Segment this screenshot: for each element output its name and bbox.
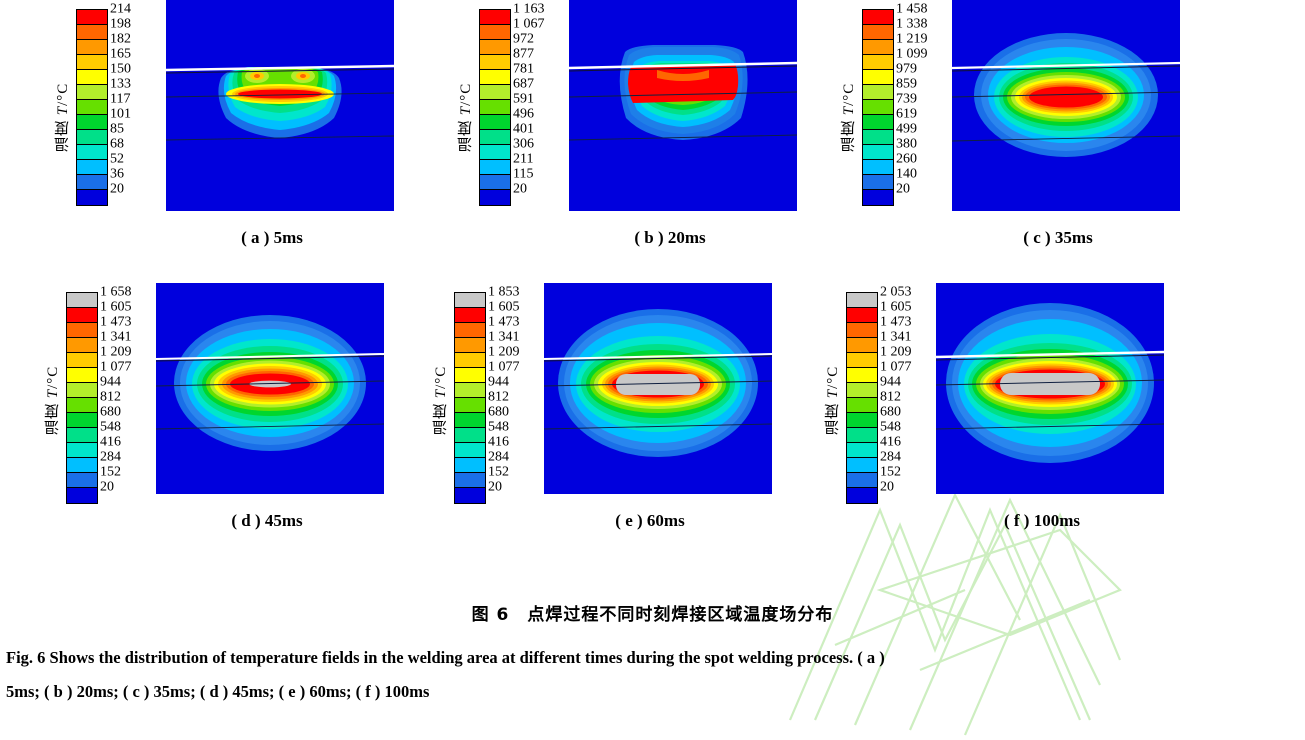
colorbar-tick-label: 198 bbox=[110, 18, 131, 32]
colorbar-cell bbox=[455, 323, 485, 338]
colorbar-cell bbox=[480, 190, 510, 205]
colorbar-cell bbox=[847, 443, 877, 458]
caption-block: 图 6 点焊过程不同时刻焊接区域温度场分布 Fig. 6 Shows the d… bbox=[0, 600, 1305, 709]
contour-plot-f bbox=[936, 283, 1164, 494]
colorbar-cell bbox=[67, 323, 97, 338]
colorbar-cell bbox=[480, 145, 510, 160]
colorbar-ticks-b: 1 1631 067972877781687591496401306211115… bbox=[513, 9, 559, 206]
colorbar-cell bbox=[455, 488, 485, 503]
panel-d: 温度 T/°C 1 6581 6051 4731 3411 2091 07794… bbox=[42, 283, 462, 498]
colorbar-cell bbox=[77, 115, 107, 130]
colorbar-tick-label: 680 bbox=[488, 406, 509, 420]
colorbar-c: 1 4581 3381 2191 09997985973961949938026… bbox=[862, 9, 942, 206]
colorbar-tick-label: 284 bbox=[488, 451, 509, 465]
colorbar-tick-label: 619 bbox=[896, 108, 917, 122]
colorbar-tick-label: 1 099 bbox=[896, 48, 928, 62]
colorbar-ticks-c: 1 4581 3381 2191 09997985973961949938026… bbox=[896, 9, 942, 206]
panel-row-bottom: 温度 T/°C 1 6581 6051 4731 3411 2091 07794… bbox=[0, 283, 1305, 568]
colorbar-cell bbox=[67, 308, 97, 323]
colorbar-cell bbox=[67, 383, 97, 398]
colorbar-cell bbox=[480, 55, 510, 70]
panel-a: 温度 T/°C 21419818216515013311710185685236… bbox=[52, 0, 472, 215]
colorbar-cell bbox=[480, 130, 510, 145]
panel-c: 温度 T/°C 1 4581 3381 2191 099979859739619… bbox=[838, 0, 1258, 215]
colorbar-swatches-c bbox=[862, 9, 894, 206]
colorbar-tick-label: 152 bbox=[880, 466, 901, 480]
colorbar-ticks-f: 2 0531 6051 4731 3411 2091 0779448126805… bbox=[880, 292, 926, 504]
colorbar-swatches-a bbox=[76, 9, 108, 206]
colorbar-tick-label: 152 bbox=[100, 466, 121, 480]
colorbar-tick-label: 133 bbox=[110, 78, 131, 92]
colorbar-cell bbox=[863, 190, 893, 205]
colorbar-tick-label: 1 077 bbox=[880, 361, 912, 375]
colorbar-cell bbox=[847, 398, 877, 413]
colorbar-tick-label: 1 219 bbox=[896, 33, 928, 47]
colorbar-tick-label: 117 bbox=[110, 93, 130, 107]
figure-caption-chinese: 图 6 点焊过程不同时刻焊接区域温度场分布 bbox=[0, 600, 1305, 625]
colorbar-tick-label: 548 bbox=[100, 421, 121, 435]
colorbar-cell bbox=[847, 458, 877, 473]
colorbar-ticks-d: 1 6581 6051 4731 3411 2091 0779448126805… bbox=[100, 292, 146, 504]
colorbar-tick-label: 1 473 bbox=[880, 316, 912, 330]
colorbar-cell bbox=[455, 443, 485, 458]
subcaption-b: ( b ) 20ms bbox=[550, 228, 790, 248]
colorbar-cell bbox=[77, 160, 107, 175]
colorbar-tick-label: 20 bbox=[110, 183, 124, 197]
colorbar-cell bbox=[847, 338, 877, 353]
colorbar-cell bbox=[455, 368, 485, 383]
colorbar-swatches-f bbox=[846, 292, 878, 504]
colorbar-cell bbox=[455, 398, 485, 413]
colorbar-tick-label: 548 bbox=[488, 421, 509, 435]
colorbar-cell bbox=[847, 488, 877, 503]
colorbar-tick-label: 52 bbox=[110, 153, 124, 167]
colorbar-cell bbox=[77, 70, 107, 85]
contour-plot-a bbox=[166, 0, 394, 211]
colorbar-tick-label: 306 bbox=[513, 138, 534, 152]
colorbar-tick-label: 115 bbox=[513, 168, 533, 182]
colorbar-cell bbox=[77, 25, 107, 40]
colorbar-f: 2 0531 6051 4731 3411 2091 0779448126805… bbox=[846, 292, 926, 504]
axis-label-b: 温度 T/°C bbox=[455, 42, 476, 192]
colorbar-tick-label: 260 bbox=[896, 153, 917, 167]
colorbar-cell bbox=[67, 428, 97, 443]
colorbar-cell bbox=[847, 353, 877, 368]
colorbar-tick-label: 944 bbox=[488, 376, 509, 390]
colorbar-cell bbox=[67, 488, 97, 503]
panel-b: 温度 T/°C 1 1631 0679728777816875914964013… bbox=[455, 0, 855, 215]
colorbar-tick-label: 680 bbox=[100, 406, 121, 420]
colorbar-tick-label: 1 209 bbox=[880, 346, 912, 360]
colorbar-cell bbox=[455, 353, 485, 368]
colorbar-tick-label: 687 bbox=[513, 78, 534, 92]
colorbar-tick-label: 284 bbox=[880, 451, 901, 465]
colorbar-tick-label: 548 bbox=[880, 421, 901, 435]
colorbar-cell bbox=[480, 70, 510, 85]
colorbar-cell bbox=[863, 130, 893, 145]
colorbar-cell bbox=[77, 190, 107, 205]
figure-temperature-fields: 温度 T/°C 21419818216515013311710185685236… bbox=[0, 0, 1305, 600]
colorbar-cell bbox=[847, 473, 877, 488]
colorbar-cell bbox=[77, 40, 107, 55]
colorbar-cell bbox=[67, 338, 97, 353]
colorbar-tick-label: 416 bbox=[488, 436, 509, 450]
colorbar-cell bbox=[847, 323, 877, 338]
colorbar-tick-label: 1 341 bbox=[488, 331, 520, 345]
colorbar-tick-label: 101 bbox=[110, 108, 131, 122]
colorbar-tick-label: 781 bbox=[513, 63, 534, 77]
colorbar-cell bbox=[455, 473, 485, 488]
figure-caption-english-line2: 5ms; ( b ) 20ms; ( c ) 35ms; ( d ) 45ms;… bbox=[0, 675, 1305, 709]
colorbar-cell bbox=[480, 115, 510, 130]
subcaption-f: ( f ) 100ms bbox=[917, 511, 1167, 531]
colorbar-tick-label: 1 077 bbox=[488, 361, 520, 375]
axis-label-e: 温度 T/°C bbox=[430, 325, 451, 475]
colorbar-cell bbox=[67, 368, 97, 383]
colorbar-cell bbox=[67, 293, 97, 308]
contour-plot-e bbox=[544, 283, 772, 494]
colorbar-tick-label: 496 bbox=[513, 108, 534, 122]
colorbar-tick-label: 211 bbox=[513, 153, 533, 167]
colorbar-cell bbox=[863, 145, 893, 160]
colorbar-tick-label: 284 bbox=[100, 451, 121, 465]
colorbar-cell bbox=[67, 353, 97, 368]
subcaption-e: ( e ) 60ms bbox=[530, 511, 770, 531]
colorbar-tick-label: 416 bbox=[100, 436, 121, 450]
colorbar-tick-label: 140 bbox=[896, 168, 917, 182]
colorbar-cell bbox=[455, 383, 485, 398]
figure-caption-english-line1: Fig. 6 Shows the distribution of tempera… bbox=[0, 641, 1305, 675]
colorbar-tick-label: 1 341 bbox=[100, 331, 132, 345]
colorbar-cell bbox=[67, 443, 97, 458]
axis-label-f: 温度 T/°C bbox=[822, 325, 843, 475]
colorbar-ticks-e: 1 8531 6051 4731 3411 2091 0779448126805… bbox=[488, 292, 534, 504]
colorbar-cell bbox=[863, 10, 893, 25]
colorbar-cell bbox=[455, 338, 485, 353]
colorbar-cell bbox=[455, 308, 485, 323]
colorbar-tick-label: 1 605 bbox=[488, 301, 520, 315]
axis-label-c: 温度 T/°C bbox=[838, 42, 859, 192]
colorbar-tick-label: 20 bbox=[488, 481, 502, 495]
colorbar-d: 1 6581 6051 4731 3411 2091 0779448126805… bbox=[66, 292, 146, 504]
colorbar-cell bbox=[77, 130, 107, 145]
colorbar-cell bbox=[863, 160, 893, 175]
colorbar-tick-label: 1 077 bbox=[100, 361, 132, 375]
colorbar-tick-label: 165 bbox=[110, 48, 131, 62]
contour-plot-b bbox=[569, 0, 797, 211]
subcaption-a: ( a ) 5ms bbox=[152, 228, 392, 248]
colorbar-tick-label: 416 bbox=[880, 436, 901, 450]
colorbar-cell bbox=[480, 40, 510, 55]
colorbar-cell bbox=[77, 100, 107, 115]
colorbar-tick-label: 20 bbox=[896, 183, 910, 197]
axis-label-a: 温度 T/°C bbox=[52, 42, 73, 192]
colorbar-tick-label: 1 658 bbox=[100, 286, 132, 300]
colorbar-cell bbox=[67, 413, 97, 428]
colorbar-tick-label: 401 bbox=[513, 123, 534, 137]
colorbar-cell bbox=[480, 175, 510, 190]
colorbar-tick-label: 499 bbox=[896, 123, 917, 137]
colorbar-cell bbox=[847, 368, 877, 383]
colorbar-tick-label: 152 bbox=[488, 466, 509, 480]
colorbar-cell bbox=[863, 25, 893, 40]
colorbar-tick-label: 812 bbox=[100, 391, 121, 405]
subcaption-c: ( c ) 35ms bbox=[938, 228, 1178, 248]
colorbar-cell bbox=[847, 293, 877, 308]
colorbar-tick-label: 944 bbox=[100, 376, 121, 390]
colorbar-cell bbox=[480, 25, 510, 40]
colorbar-tick-label: 20 bbox=[880, 481, 894, 495]
colorbar-tick-label: 877 bbox=[513, 48, 534, 62]
colorbar-tick-label: 214 bbox=[110, 3, 131, 17]
colorbar-cell bbox=[863, 40, 893, 55]
colorbar-cell bbox=[480, 10, 510, 25]
colorbar-ticks-a: 2141981821651501331171018568523620 bbox=[110, 9, 156, 206]
colorbar-cell bbox=[77, 175, 107, 190]
colorbar-tick-label: 972 bbox=[513, 33, 534, 47]
colorbar-tick-label: 85 bbox=[110, 123, 124, 137]
colorbar-tick-label: 1 209 bbox=[488, 346, 520, 360]
panel-f: 温度 T/°C 2 0531 6051 4731 3411 2091 07794… bbox=[822, 283, 1252, 498]
contour-plot-d bbox=[156, 283, 384, 494]
colorbar-tick-label: 182 bbox=[110, 33, 131, 47]
colorbar-tick-label: 68 bbox=[110, 138, 124, 152]
colorbar-tick-label: 591 bbox=[513, 93, 534, 107]
colorbar-tick-label: 1 338 bbox=[896, 18, 928, 32]
colorbar-cell bbox=[847, 413, 877, 428]
colorbar-tick-label: 380 bbox=[896, 138, 917, 152]
colorbar-tick-label: 812 bbox=[488, 391, 509, 405]
colorbar-tick-label: 1 209 bbox=[100, 346, 132, 360]
colorbar-cell bbox=[863, 55, 893, 70]
colorbar-b: 1 1631 067972877781687591496401306211115… bbox=[479, 9, 559, 206]
colorbar-tick-label: 739 bbox=[896, 93, 917, 107]
colorbar-tick-label: 1 473 bbox=[100, 316, 132, 330]
colorbar-tick-label: 1 163 bbox=[513, 3, 545, 17]
colorbar-cell bbox=[77, 85, 107, 100]
contour-plot-c bbox=[952, 0, 1180, 211]
colorbar-tick-label: 1 605 bbox=[100, 301, 132, 315]
panel-row-top: 温度 T/°C 21419818216515013311710185685236… bbox=[0, 0, 1305, 280]
colorbar-cell bbox=[455, 458, 485, 473]
colorbar-tick-label: 1 853 bbox=[488, 286, 520, 300]
panel-e: 温度 T/°C 1 8531 6051 4731 3411 2091 07794… bbox=[430, 283, 850, 498]
colorbar-cell bbox=[77, 55, 107, 70]
axis-label-d: 温度 T/°C bbox=[42, 325, 63, 475]
colorbar-tick-label: 150 bbox=[110, 63, 131, 77]
colorbar-cell bbox=[455, 413, 485, 428]
colorbar-cell bbox=[77, 145, 107, 160]
colorbar-swatches-e bbox=[454, 292, 486, 504]
colorbar-tick-label: 812 bbox=[880, 391, 901, 405]
subcaption-d: ( d ) 45ms bbox=[147, 511, 387, 531]
colorbar-cell bbox=[67, 473, 97, 488]
colorbar-tick-label: 2 053 bbox=[880, 286, 912, 300]
colorbar-tick-label: 1 067 bbox=[513, 18, 545, 32]
colorbar-cell bbox=[863, 85, 893, 100]
colorbar-cell bbox=[847, 428, 877, 443]
colorbar-tick-label: 979 bbox=[896, 63, 917, 77]
colorbar-tick-label: 20 bbox=[513, 183, 527, 197]
colorbar-cell bbox=[847, 308, 877, 323]
colorbar-tick-label: 1 605 bbox=[880, 301, 912, 315]
colorbar-cell bbox=[480, 85, 510, 100]
colorbar-cell bbox=[863, 115, 893, 130]
colorbar-swatches-d bbox=[66, 292, 98, 504]
colorbar-cell bbox=[455, 428, 485, 443]
colorbar-tick-label: 36 bbox=[110, 168, 124, 182]
colorbar-tick-label: 1 473 bbox=[488, 316, 520, 330]
colorbar-tick-label: 20 bbox=[100, 481, 114, 495]
colorbar-tick-label: 680 bbox=[880, 406, 901, 420]
colorbar-cell bbox=[67, 458, 97, 473]
colorbar-cell bbox=[863, 100, 893, 115]
colorbar-swatches-b bbox=[479, 9, 511, 206]
colorbar-cell bbox=[863, 175, 893, 190]
colorbar-tick-label: 859 bbox=[896, 78, 917, 92]
colorbar-cell bbox=[480, 100, 510, 115]
colorbar-cell bbox=[77, 10, 107, 25]
colorbar-cell bbox=[480, 160, 510, 175]
colorbar-tick-label: 1 341 bbox=[880, 331, 912, 345]
colorbar-cell bbox=[863, 70, 893, 85]
colorbar-e: 1 8531 6051 4731 3411 2091 0779448126805… bbox=[454, 292, 534, 504]
colorbar-cell bbox=[455, 293, 485, 308]
colorbar-a: 2141981821651501331171018568523620 bbox=[76, 9, 156, 206]
colorbar-cell bbox=[847, 383, 877, 398]
colorbar-cell bbox=[67, 398, 97, 413]
colorbar-tick-label: 1 458 bbox=[896, 3, 928, 17]
colorbar-tick-label: 944 bbox=[880, 376, 901, 390]
